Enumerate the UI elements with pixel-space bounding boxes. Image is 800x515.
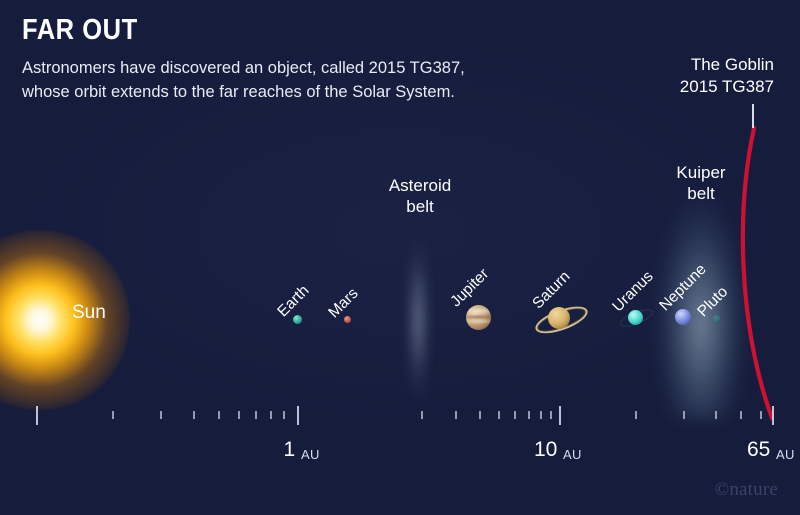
planet-neptune [675,309,691,325]
planet-label-jupiter: Jupiter [447,265,493,311]
axis-label-value: 10 [534,438,557,462]
axis-tick-major [772,406,774,425]
page-description: Astronomers have discovered an object, c… [22,57,502,104]
axis-tick-minor [270,411,272,419]
asteroid-belt-label-line1: Asteroid [370,176,470,197]
axis-tick-minor [193,411,195,419]
goblin-label-line2: 2015 TG387 [610,76,774,98]
axis-tick-minor [540,411,542,419]
axis-tick-minor [283,411,285,419]
kuiper-belt-label-line1: Kuiper [650,163,752,184]
axis-tick-major [36,406,38,425]
sun-label: Sun [72,302,106,324]
asteroid-belt-band [408,232,428,408]
axis-tick-minor [112,411,114,419]
axis-label-value: 1 [284,438,296,462]
axis-tick-minor [514,411,516,419]
axis-tick-minor [160,411,162,419]
planet-label-saturn: Saturn [529,268,574,313]
axis-tick-minor [238,411,240,419]
axis-label-value: 65 [747,438,770,462]
axis-label-unit: AU [301,447,320,462]
axis-label-unit: AU [563,447,582,462]
axis-tick-minor [255,411,257,419]
axis-tick-major [559,406,561,425]
axis-tick-minor [455,411,457,419]
page-title: FAR OUT [22,14,138,47]
infographic-root: FAR OUT Astronomers have discovered an o… [0,0,800,515]
axis-tick-minor [528,411,530,419]
goblin-label: The Goblin 2015 TG387 [610,54,774,98]
planet-saturn [548,307,570,329]
planet-mars [344,316,351,323]
planet-uranus [628,310,643,325]
axis-tick-minor [740,411,742,419]
planet-jupiter [466,305,491,330]
kuiper-belt-label: Kuiper belt [650,163,752,204]
axis-tick-minor [715,411,717,419]
sun-glow [0,230,130,410]
planet-pluto [713,315,720,322]
axis-tick-minor [683,411,685,419]
axis-tick-minor [498,411,500,419]
goblin-leader-line [752,104,754,128]
axis-tick-minor [760,411,762,419]
planet-earth [293,315,302,324]
kuiper-belt-label-line2: belt [650,184,752,205]
axis-tick-major [297,406,299,425]
planet-label-mars: Mars [325,284,362,321]
axis-label-unit: AU [776,447,795,462]
asteroid-belt-label: Asteroid belt [370,176,470,217]
nature-watermark: ©nature [715,479,778,501]
goblin-label-line1: The Goblin [610,54,774,76]
axis-tick-minor [550,411,552,419]
kuiper-belt-band [636,170,766,420]
axis-tick-minor [479,411,481,419]
asteroid-belt-label-line2: belt [370,197,470,218]
axis-tick-minor [421,411,423,419]
axis-tick-minor [635,411,637,419]
axis-tick-minor [218,411,220,419]
planet-label-earth: Earth [274,282,313,321]
